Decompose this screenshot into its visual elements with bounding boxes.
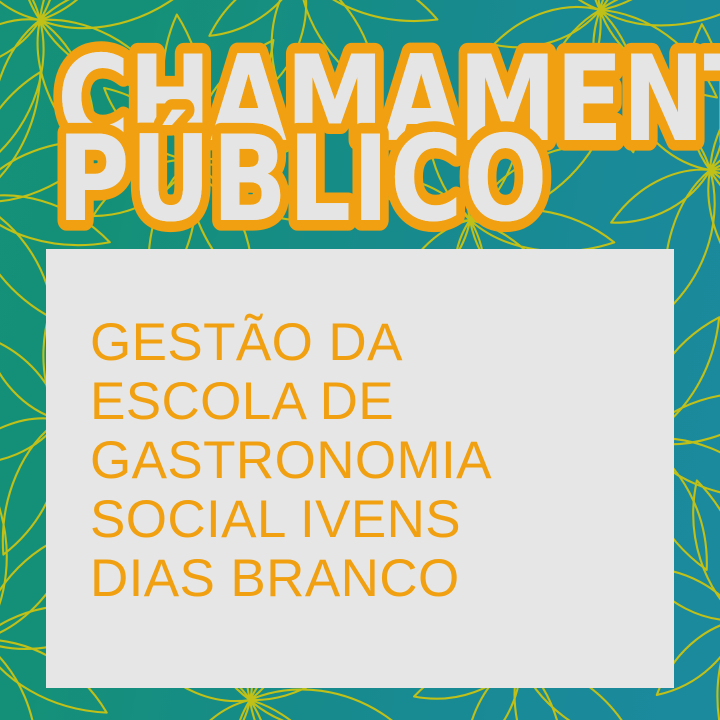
body-line: GASTRONOMIA xyxy=(90,431,656,490)
body-line: GESTÃO DA xyxy=(90,313,656,372)
info-card: GESTÃO DA ESCOLA DE GASTRONOMIA SOCIAL I… xyxy=(46,249,674,688)
body-line: DIAS BRANCO xyxy=(90,549,656,608)
poster-canvas: CHAMAMENTO CHAMAMENTO PÚBLICO PÚBLICO GE… xyxy=(0,0,720,720)
card-body-text: GESTÃO DA ESCOLA DE GASTRONOMIA SOCIAL I… xyxy=(90,313,656,608)
body-line: ESCOLA DE xyxy=(90,372,656,431)
body-line: SOCIAL IVENS xyxy=(90,490,656,549)
